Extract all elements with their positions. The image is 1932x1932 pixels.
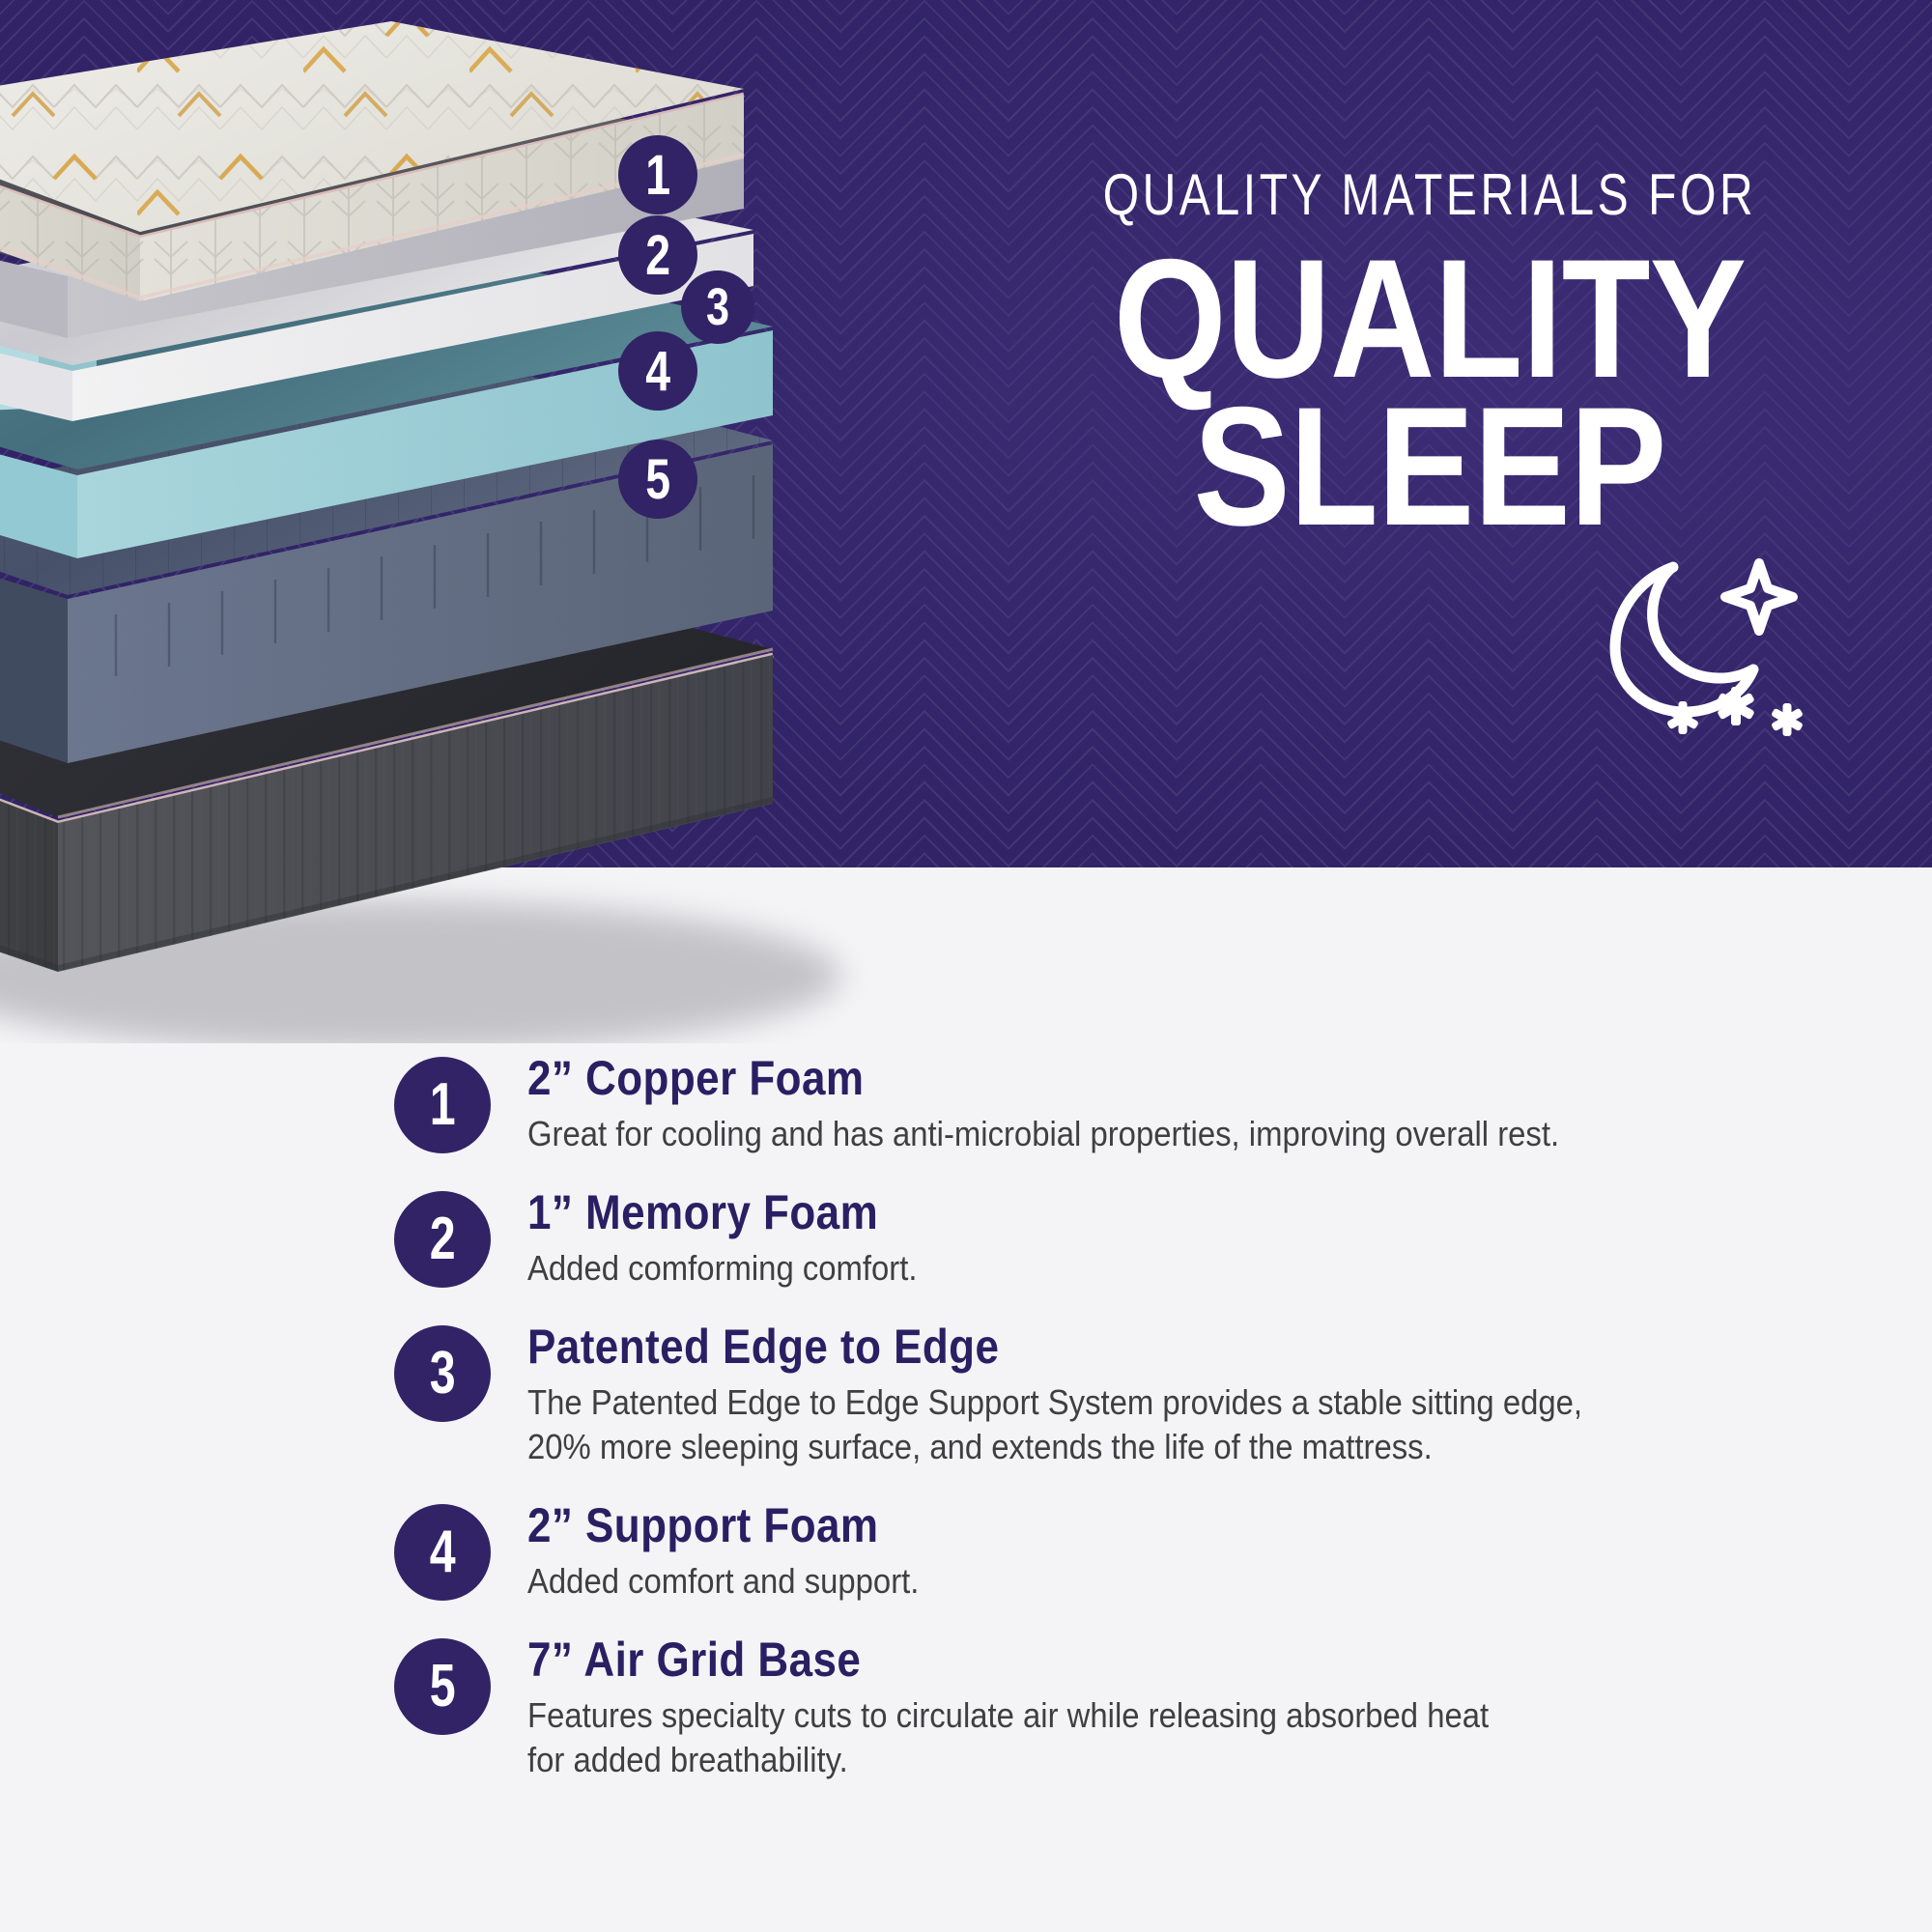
legend-item: 57” Air Grid BaseFeatures specialty cuts…	[394, 1633, 1862, 1782]
callout-badge-3[interactable]: 3	[681, 270, 754, 344]
legend-description: Great for cooling and has anti-microbial…	[527, 1112, 1559, 1156]
legend-item: 42” Support FoamAdded comfort and suppor…	[394, 1498, 1862, 1604]
callout-badge-number: 1	[645, 143, 670, 208]
legend-item: 21” Memory FoamAdded comforming comfort.	[394, 1185, 1862, 1291]
legend-title: 1” Memory Foam	[527, 1187, 909, 1237]
legend-badge-3[interactable]: 3	[394, 1325, 491, 1422]
legend-text-block: 2” Copper FoamGreat for cooling and has …	[527, 1051, 1674, 1156]
legend-badge-2[interactable]: 2	[394, 1191, 491, 1288]
legend-badge-number: 1	[430, 1075, 456, 1135]
moon-and-stars-icon	[1604, 555, 1855, 739]
legend-description: Added comforming comfort.	[527, 1246, 917, 1291]
legend-description: The Patented Edge to Edge Support System…	[527, 1380, 1582, 1469]
headline-line-2: SLEEP	[1039, 389, 1820, 547]
callout-badge-2[interactable]: 2	[618, 215, 697, 295]
callout-badge-number: 3	[706, 277, 729, 337]
legend-badge-1[interactable]: 1	[394, 1057, 491, 1153]
mattress-layers-svg	[0, 0, 1014, 1043]
legend-title: 2” Support Foam	[527, 1500, 910, 1550]
sparkle-star-icon	[1725, 563, 1793, 631]
legend-item: 3Patented Edge to EdgeThe Patented Edge …	[394, 1320, 1862, 1469]
legend-text-block: 2” Support FoamAdded comfort and support…	[527, 1498, 962, 1604]
legend-badge-5[interactable]: 5	[394, 1638, 491, 1735]
legend-text-block: 1” Memory FoamAdded comforming comfort.	[527, 1185, 960, 1291]
callout-badge-5[interactable]: 5	[618, 440, 697, 519]
legend-text-block: 7” Air Grid BaseFeatures specialty cuts …	[527, 1633, 1596, 1782]
legend-title: Patented Edge to Edge	[527, 1321, 1559, 1372]
headline-kicker: QUALITY MATERIALS FOR	[1066, 166, 1793, 224]
layer-legend-list: 12” Copper FoamGreat for cooling and has…	[394, 1051, 1862, 1811]
callout-badge-number: 2	[645, 223, 670, 288]
legend-badge-4[interactable]: 4	[394, 1504, 491, 1601]
legend-item: 12” Copper FoamGreat for cooling and has…	[394, 1051, 1862, 1156]
small-stars-icon	[1666, 687, 1804, 736]
hero-headline: QUALITY MATERIALS FOR QUALITY SLEEP	[976, 166, 1884, 547]
legend-description: Added comfort and support.	[527, 1559, 919, 1604]
moon-icon-svg	[1604, 555, 1855, 739]
legend-text-block: Patented Edge to EdgeThe Patented Edge t…	[527, 1320, 1699, 1469]
legend-badge-number: 3	[430, 1344, 456, 1404]
legend-title: 2” Copper Foam	[527, 1053, 1536, 1103]
callout-badge-1[interactable]: 1	[618, 135, 697, 214]
callout-badge-number: 4	[645, 339, 670, 404]
legend-badge-number: 5	[430, 1657, 456, 1717]
legend-description: Features specialty cuts to circulate air…	[527, 1693, 1489, 1782]
callout-badge-4[interactable]: 4	[618, 331, 697, 411]
infographic-canvas: 12345 QUALITY MATERIALS FOR QUALITY SLEE…	[0, 0, 1932, 1932]
legend-badge-number: 4	[430, 1522, 456, 1582]
callout-badge-number: 5	[645, 447, 670, 512]
mattress-illustration	[0, 0, 1014, 1043]
legend-badge-number: 2	[430, 1209, 456, 1269]
legend-title: 7” Air Grid Base	[527, 1634, 1467, 1685]
